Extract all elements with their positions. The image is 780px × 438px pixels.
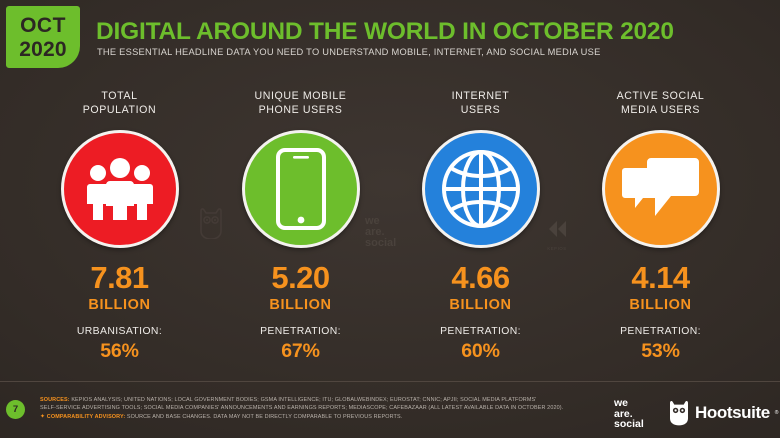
we-are-social-watermark: we are. social: [365, 216, 396, 249]
stat-metric-label: PENETRATION:: [563, 326, 758, 337]
stat-title-line1: TOTAL: [22, 90, 217, 104]
stat-unit: BILLION: [22, 298, 217, 313]
advisory-key: COMPARABILITY ADVISORY:: [47, 414, 125, 420]
stat-title: INTERNET USERS: [383, 90, 578, 120]
stat-title-line2: MEDIA USERS: [563, 104, 758, 118]
hootsuite-owl-watermark-icon: [198, 207, 224, 244]
sources-line-2: SELF-SERVICE ADVERTISING TOOLS; SOCIAL M…: [40, 404, 630, 412]
we-are-social-logo: we are. social: [614, 398, 644, 430]
kepios-logo-icon: [546, 218, 568, 240]
page-title: DIGITAL AROUND THE WORLD IN OCTOBER 2020: [96, 18, 674, 46]
sources-text-1: KEPIOS ANALYSIS; UNITED NATIONS; LOCAL G…: [71, 397, 536, 403]
hootsuite-logo: Hootsuite ®: [668, 399, 778, 426]
stat-title-line2: PHONE USERS: [203, 104, 398, 118]
stat-metric-label: PENETRATION:: [203, 326, 398, 337]
hootsuite-registered-mark: ®: [775, 410, 779, 416]
was-logo-line1: we: [614, 398, 644, 409]
speech-bubbles-icon: [602, 130, 720, 248]
page-number-badge: 7: [6, 400, 25, 419]
stat-column-social-media-users: ACTIVE SOCIAL MEDIA USERS 4.14 BILLION P…: [563, 90, 758, 363]
stat-title: ACTIVE SOCIAL MEDIA USERS: [563, 90, 758, 120]
stat-title-line1: INTERNET: [383, 90, 578, 104]
stat-value: 5.20: [203, 262, 398, 293]
sources-key: SOURCES:: [40, 397, 70, 403]
was-logo-line3: social: [614, 419, 644, 430]
smartphone-icon: [242, 130, 360, 248]
page-subtitle: THE ESSENTIAL HEADLINE DATA YOU NEED TO …: [97, 47, 601, 57]
stat-icon-circle: [422, 130, 540, 248]
slide-canvas: OCT 2020 DIGITAL AROUND THE WORLD IN OCT…: [0, 0, 780, 438]
kepios-watermark-label: KEPIOS: [546, 246, 568, 251]
stat-title: TOTAL POPULATION: [22, 90, 217, 120]
stat-icon-circle: [61, 130, 179, 248]
date-badge-month: OCT: [20, 15, 66, 36]
kepios-watermark: KEPIOS: [546, 218, 568, 251]
hootsuite-owl-icon: [668, 399, 690, 426]
sources-line-1: SOURCES: KEPIOS ANALYSIS; UNITED NATIONS…: [40, 396, 630, 404]
stat-icon-circle: [242, 130, 360, 248]
advisory-text: SOURCE AND BASE CHANGES. DATA MAY NOT BE…: [127, 414, 402, 420]
stat-metric-label: PENETRATION:: [383, 326, 578, 337]
stat-metric-value: 53%: [563, 340, 758, 363]
stat-title-line2: POPULATION: [22, 104, 217, 118]
stat-unit: BILLION: [563, 298, 758, 313]
footer-divider: [0, 381, 780, 382]
stat-title-line1: UNIQUE MOBILE: [203, 90, 398, 104]
advisory-line: ✦ COMPARABILITY ADVISORY: SOURCE AND BAS…: [40, 413, 630, 422]
stat-title-line1: ACTIVE SOCIAL: [563, 90, 758, 104]
stat-value: 7.81: [22, 262, 217, 293]
stat-title-line2: USERS: [383, 104, 578, 118]
advisory-bullet-icon: ✦: [40, 414, 45, 420]
people-icon: [61, 130, 179, 248]
stat-metric-value: 60%: [383, 340, 578, 363]
hootsuite-wordmark: Hootsuite: [695, 403, 770, 423]
stat-value: 4.14: [563, 262, 758, 293]
globe-icon: [422, 130, 540, 248]
sources-block: SOURCES: KEPIOS ANALYSIS; UNITED NATIONS…: [40, 396, 630, 422]
date-badge: OCT 2020: [6, 6, 80, 68]
stat-icon-circle: [602, 130, 720, 248]
stat-metric-label: URBANISATION:: [22, 326, 217, 337]
watermark-was-line3: social: [365, 238, 396, 249]
stat-unit: BILLION: [203, 298, 398, 313]
date-badge-year: 2020: [19, 39, 67, 60]
stat-metric-value: 56%: [22, 340, 217, 363]
stat-title: UNIQUE MOBILE PHONE USERS: [203, 90, 398, 120]
stat-column-total-population: TOTAL POPULATION 7.81 BILLION URBAN: [22, 90, 217, 363]
stat-metric-value: 67%: [203, 340, 398, 363]
stat-unit: BILLION: [383, 298, 578, 313]
stat-value: 4.66: [383, 262, 578, 293]
